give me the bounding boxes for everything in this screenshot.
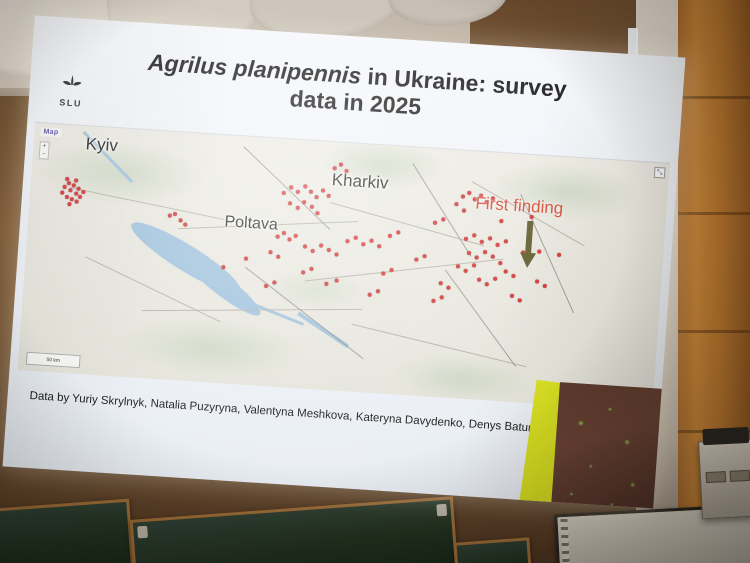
slu-logo: SLU	[50, 73, 93, 115]
projected-slide: SLU Agrilus planipennis in Ukraine: surv…	[3, 16, 686, 509]
city-label-kyiv: Kyiv	[85, 134, 118, 156]
layers-icon[interactable]	[587, 142, 599, 154]
av-box-top	[702, 427, 749, 445]
chalkboard	[453, 537, 532, 563]
slu-wordmark: SLU	[50, 97, 91, 110]
bark-photo	[551, 382, 668, 508]
wood-seam	[678, 212, 750, 215]
survey-map[interactable]: KyivKharkivPoltava First finding Map + −…	[17, 122, 669, 411]
wood-seam	[678, 96, 750, 99]
board-clip	[436, 504, 447, 517]
board-clip	[137, 526, 148, 539]
expand-icon[interactable]: ⤡	[654, 167, 666, 179]
slide-title: Agrilus planipennis in Ukraine: survey d…	[95, 46, 618, 134]
city-label-poltava: Poltava	[224, 213, 279, 234]
lecture-hall-scene: SLU Agrilus planipennis in Ukraine: surv…	[0, 0, 750, 563]
wood-seam	[678, 330, 750, 333]
globe-icon[interactable]	[522, 137, 534, 149]
slu-leaf-icon	[51, 73, 93, 99]
chalkboard	[0, 499, 135, 563]
zoom-in-button[interactable]: +	[43, 143, 47, 149]
gear-icon[interactable]	[631, 144, 643, 156]
ceiling-panel	[386, 0, 509, 29]
scientific-name: Agrilus planipennis	[147, 49, 362, 89]
av-control-box[interactable]	[698, 439, 750, 520]
city-label-kharkiv: Kharkiv	[331, 170, 389, 194]
av-box-slot	[730, 470, 750, 482]
filter-icon[interactable]	[653, 146, 665, 158]
map-zoom-control[interactable]: + −	[39, 141, 50, 160]
whiteboard-rail	[560, 519, 570, 563]
wrench-icon[interactable]	[609, 143, 621, 155]
av-box-slot	[706, 471, 727, 483]
zoom-out-button[interactable]: −	[42, 151, 46, 157]
fullscreen-icon[interactable]	[544, 139, 556, 151]
first-finding-arrow-icon	[518, 220, 539, 269]
download-icon[interactable]	[565, 140, 577, 152]
map-layer-button[interactable]: Map	[40, 127, 62, 137]
